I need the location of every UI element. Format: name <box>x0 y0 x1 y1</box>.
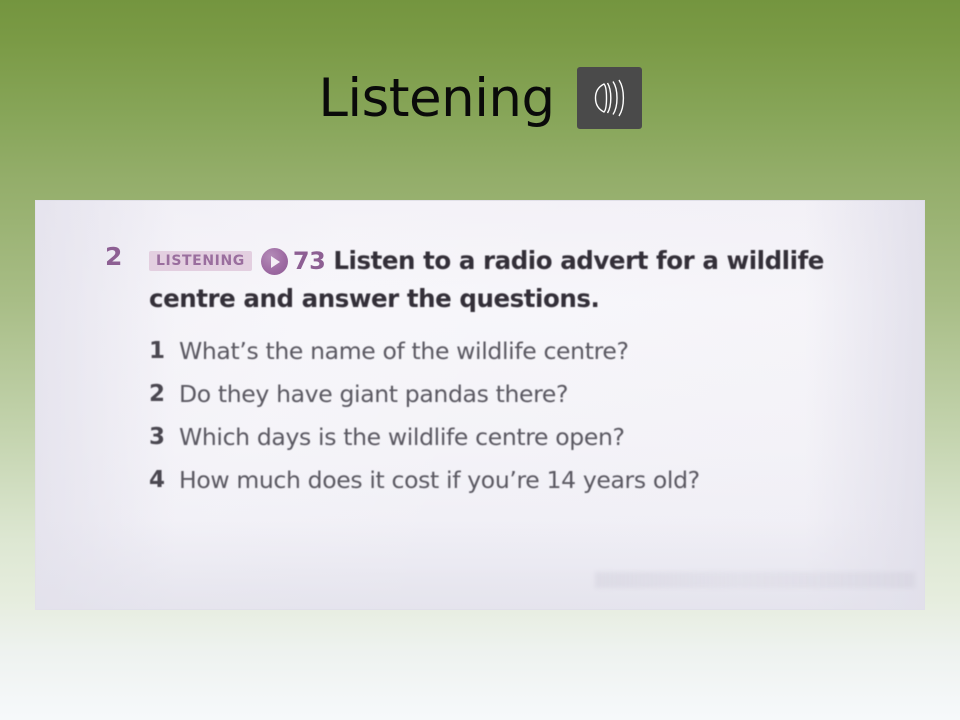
page-title: Listening <box>318 72 554 125</box>
audio-speaker-badge[interactable] <box>577 67 642 129</box>
exercise-header: 2 LISTENING73 Listen to a radio advert f… <box>105 242 895 318</box>
slide-title-row: Listening <box>0 58 960 138</box>
question-list: 1 What’s the name of the wildlife centre… <box>105 334 895 497</box>
presentation-slide: Listening 2 LISTENING73 Li <box>0 0 960 720</box>
textbook-page-scan: 2 LISTENING73 Listen to a radio advert f… <box>35 200 925 610</box>
question-number: 4 <box>149 463 179 497</box>
exercise-number: 2 <box>105 242 149 272</box>
question-text: Which days is the wildlife centre open? <box>179 420 625 454</box>
question-number: 2 <box>149 377 179 411</box>
question-text: Do they have giant pandas there? <box>179 377 568 411</box>
list-item: 1 What’s the name of the wildlife centre… <box>149 334 895 368</box>
list-item: 2 Do they have giant pandas there? <box>149 377 895 411</box>
list-item: 3 Which days is the wildlife centre open… <box>149 420 895 454</box>
list-item: 4 How much does it cost if you’re 14 yea… <box>149 463 895 497</box>
question-text: What’s the name of the wildlife centre? <box>179 334 629 368</box>
audio-track-number: 73 <box>293 247 325 275</box>
listening-skill-badge: LISTENING <box>149 251 252 271</box>
speaker-sound-waves-icon <box>587 77 631 119</box>
play-button-icon[interactable] <box>261 248 288 275</box>
question-text: How much does it cost if you’re 14 years… <box>179 463 700 497</box>
question-number: 1 <box>149 334 179 368</box>
question-number: 3 <box>149 420 179 454</box>
